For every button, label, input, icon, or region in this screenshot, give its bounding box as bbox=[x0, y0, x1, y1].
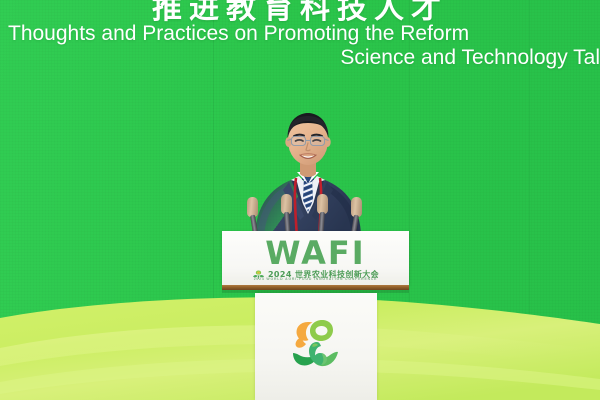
mic-windscreen bbox=[351, 197, 362, 217]
headline-english-line2: Science and Technology Tal bbox=[0, 46, 600, 70]
photo-stage: 推进教育科技人才 Thoughts and Practices on Promo… bbox=[0, 0, 600, 400]
wafi-flower-logo bbox=[286, 315, 346, 373]
backdrop-headline: 推进教育科技人才 Thoughts and Practices on Promo… bbox=[0, 0, 600, 24]
wafi-subtitle-english: 2024 WORLD AGRI-FOOD INNOVATION CONFEREN… bbox=[222, 277, 409, 281]
mic-windscreen bbox=[317, 194, 328, 214]
wafi-wordmark: WAFI bbox=[222, 236, 409, 270]
podium-front-panel: WAFI 2024 世界农业科技创新大会 2024 WORLD AGRI-FOO… bbox=[222, 231, 409, 285]
headline-chinese: 推进教育科技人才 bbox=[0, 0, 600, 24]
headline-english-line1: Thoughts and Practices on Promoting the … bbox=[0, 22, 600, 46]
headline-english: Thoughts and Practices on Promoting the … bbox=[0, 22, 600, 70]
backdrop-seam bbox=[213, 0, 214, 330]
podium-base-column bbox=[255, 293, 377, 400]
